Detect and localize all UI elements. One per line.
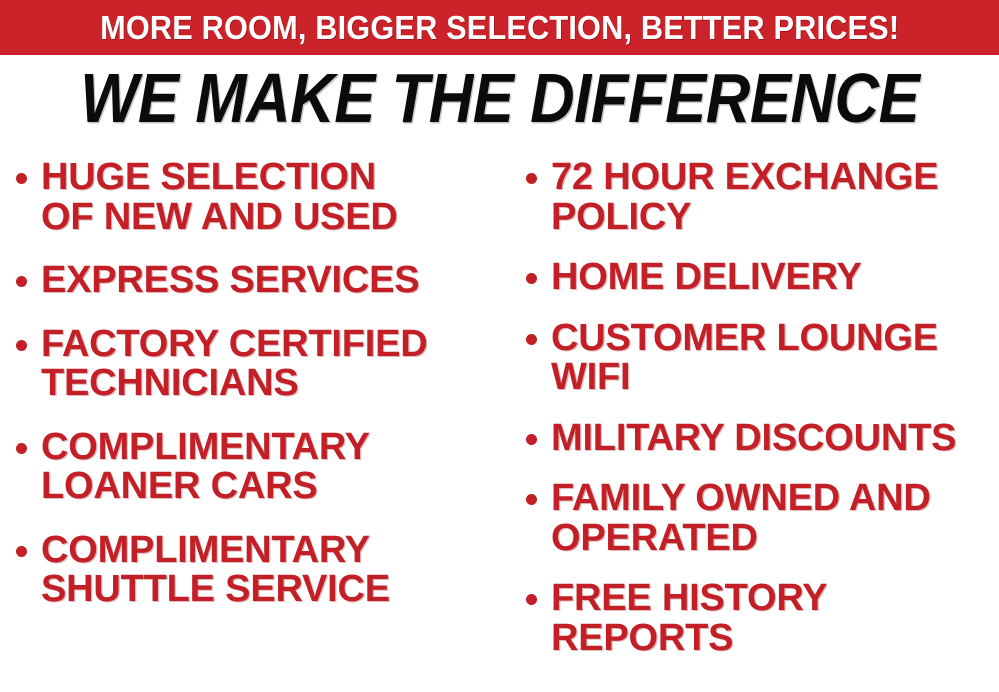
list-item-label: FACTORY CERTIFIED TECHNICIANS (41, 325, 505, 404)
list-item: HUGE SELECTION OF NEW AND USED (16, 158, 505, 237)
top-promo-banner-text: MORE ROOM, BIGGER SELECTION, BETTER PRIC… (100, 11, 899, 44)
bullet-dot-icon (16, 276, 27, 287)
list-item-label: HUGE SELECTION OF NEW AND USED (41, 158, 505, 237)
list-item: FAMILY OWNED AND OPERATED (526, 479, 999, 558)
list-item: COMPLIMENTARY LOANER CARS (16, 428, 505, 507)
bullet-dot-icon (526, 334, 537, 345)
list-item-label: HOME DELIVERY (551, 258, 999, 298)
bullet-dot-icon (16, 546, 27, 557)
list-item: EXPRESS SERVICES (16, 261, 505, 301)
advertisement-banner: MORE ROOM, BIGGER SELECTION, BETTER PRIC… (0, 0, 999, 692)
list-item: COMPLIMENTARY SHUTTLE SERVICE (16, 531, 505, 610)
features-column-right: 72 HOUR EXCHANGE POLICY HOME DELIVERY CU… (505, 158, 999, 679)
list-item-label: EXPRESS SERVICES (41, 261, 505, 301)
list-item: HOME DELIVERY (526, 258, 999, 298)
list-item-label: FAMILY OWNED AND OPERATED (551, 479, 999, 558)
headline-text: WE MAKE THE DIFFERENCE (80, 63, 919, 133)
bullet-dot-icon (526, 494, 537, 505)
bullet-dot-icon (526, 434, 537, 445)
list-item: FACTORY CERTIFIED TECHNICIANS (16, 325, 505, 404)
list-item: MILITARY DISCOUNTS (526, 419, 999, 459)
features-columns: HUGE SELECTION OF NEW AND USED EXPRESS S… (0, 158, 999, 692)
bullet-dot-icon (16, 443, 27, 454)
list-item-label: COMPLIMENTARY SHUTTLE SERVICE (41, 531, 505, 610)
bullet-dot-icon (526, 594, 537, 605)
headline: WE MAKE THE DIFFERENCE (0, 63, 999, 133)
list-item-label: MILITARY DISCOUNTS (551, 419, 999, 459)
bullet-dot-icon (526, 273, 537, 284)
list-item-label: FREE HISTORY REPORTS (551, 579, 999, 658)
list-item: CUSTOMER LOUNGE WIFI (526, 319, 999, 398)
top-promo-banner: MORE ROOM, BIGGER SELECTION, BETTER PRIC… (0, 0, 999, 55)
features-column-left: HUGE SELECTION OF NEW AND USED EXPRESS S… (0, 158, 505, 634)
list-item: FREE HISTORY REPORTS (526, 579, 999, 658)
list-item-label: COMPLIMENTARY LOANER CARS (41, 428, 505, 507)
bullet-dot-icon (526, 173, 537, 184)
bullet-dot-icon (16, 173, 27, 184)
list-item-label: 72 HOUR EXCHANGE POLICY (551, 158, 999, 237)
bullet-dot-icon (16, 340, 27, 351)
list-item-label: CUSTOMER LOUNGE WIFI (551, 319, 999, 398)
list-item: 72 HOUR EXCHANGE POLICY (526, 158, 999, 237)
